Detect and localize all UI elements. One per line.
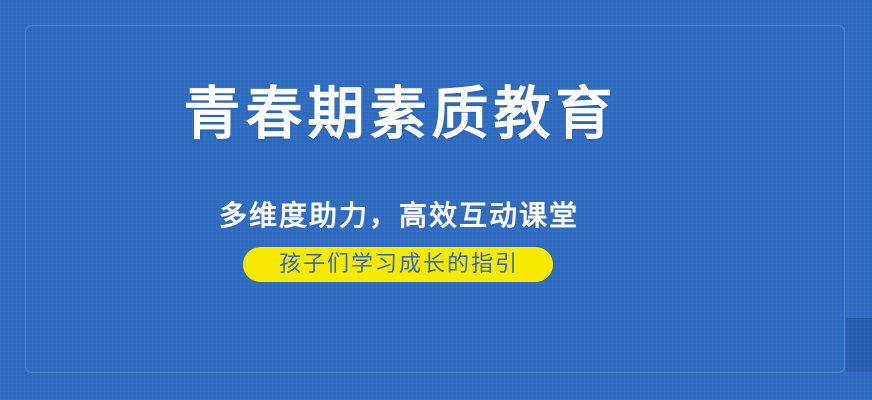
corner-shade-block — [846, 318, 872, 372]
banner-title: 青春期素质教育 — [179, 86, 618, 143]
promo-banner: 青春期素质教育 多维度助力，高效互动课堂 孩子们学习成长的指引 — [0, 0, 872, 400]
banner-badge: 孩子们学习成长的指引 — [243, 247, 553, 282]
banner-content: 青春期素质教育 多维度助力，高效互动课堂 孩子们学习成长的指引 — [0, 0, 796, 400]
banner-subtitle: 多维度助力，高效互动课堂 — [217, 202, 579, 230]
